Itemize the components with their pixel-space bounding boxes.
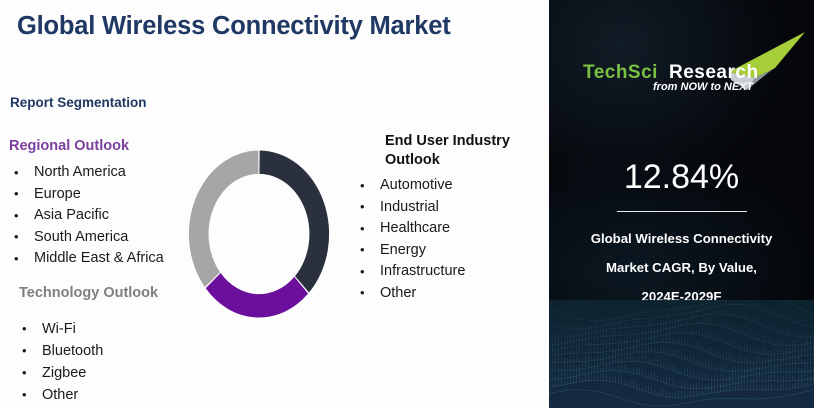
wave-stipple: [615, 367, 616, 371]
wave-stipple: [627, 382, 628, 386]
wave-stipple: [630, 336, 631, 342]
wave-stipple: [762, 302, 763, 309]
wave-stipple: [690, 307, 691, 313]
wave-stipple: [702, 328, 703, 335]
wave-stipple: [636, 347, 637, 353]
wave-stipple: [804, 319, 805, 326]
wave-stipple: [591, 346, 592, 353]
wave-stipple: [807, 374, 808, 379]
wave-stipple: [669, 378, 670, 385]
wave-stipple: [807, 359, 808, 364]
wave-stipple: [777, 347, 778, 354]
wave-stipple: [738, 383, 739, 390]
wave-stipple: [687, 319, 688, 324]
wave-stipple: [738, 356, 739, 362]
wave-stipple: [681, 381, 682, 388]
wave-stipple: [561, 331, 562, 338]
wave-stipple: [564, 322, 565, 328]
wave-stipple: [552, 344, 553, 351]
wave-stipple: [660, 329, 661, 335]
wave-stipple: [609, 377, 610, 382]
list-item: Other: [20, 384, 103, 406]
wave-stipple: [648, 314, 649, 318]
wave-stipple: [753, 357, 754, 363]
wave-stipple: [612, 378, 613, 382]
wave-stipple: [810, 333, 811, 337]
wave-stipple: [762, 386, 763, 390]
wave-stipple: [609, 364, 610, 371]
wave-stipple: [576, 376, 577, 382]
wave-stipple: [687, 369, 688, 376]
wave-stipple: [585, 350, 586, 353]
wave-stipple: [729, 378, 730, 385]
cagr-caption-line-1: Global Wireless Connectivity: [549, 224, 814, 253]
wave-stipple: [624, 315, 625, 322]
wave-stipple: [564, 347, 565, 354]
wave-stipple: [573, 334, 574, 341]
wave-stipple: [660, 324, 661, 331]
wave-stipple: [684, 393, 685, 397]
wave-stipple: [741, 365, 742, 371]
wave-stipple: [621, 321, 622, 328]
wave-stipple: [639, 320, 640, 327]
wave-stipple: [711, 334, 712, 338]
wave-stipple: [711, 387, 712, 393]
wave-stipple: [642, 333, 643, 340]
wave-stipple: [681, 337, 682, 344]
list-item: South America: [12, 227, 164, 249]
wave-stipple: [615, 337, 616, 343]
wave-stipple: [639, 356, 640, 362]
wave-stipple: [750, 360, 751, 363]
wave-stipple: [777, 308, 778, 315]
wave-stipple: [759, 302, 760, 309]
wave-stipple: [651, 372, 652, 379]
wave-stipple: [552, 374, 553, 380]
wave-stipple: [789, 351, 790, 358]
wave-stipple: [708, 347, 709, 353]
wave-stipple: [609, 323, 610, 330]
wave-stipple: [672, 337, 673, 342]
wave-stipple: [762, 367, 763, 374]
wave-stipple: [573, 348, 574, 353]
technology-outlook-list: Wi-Fi Bluetooth Zigbee Other: [20, 318, 103, 406]
wave-stipple: [645, 322, 646, 326]
wave-stipple: [756, 302, 757, 307]
wave-stipple: [717, 388, 718, 392]
wave-stipple: [627, 335, 628, 342]
wave-stipple: [594, 376, 595, 381]
wave-stipple: [654, 390, 655, 394]
wave-stipple: [774, 362, 775, 366]
wave-stipple: [564, 358, 565, 362]
wave-stipple: [582, 369, 583, 375]
wave-stipple: [681, 352, 682, 358]
wave-stipple: [786, 340, 787, 345]
wave-stipple: [696, 310, 697, 317]
wave-stipple: [777, 376, 778, 382]
wave-stipple: [588, 354, 589, 361]
wave-stipple: [729, 326, 730, 329]
wave-stipple: [801, 340, 802, 345]
wave-stipple: [681, 320, 682, 326]
wave-stipple: [780, 378, 781, 381]
wave-stipple: [663, 323, 664, 330]
wave-stipple: [582, 339, 583, 346]
wave-stipple: [789, 314, 790, 321]
wave-stipple: [693, 317, 694, 324]
wave-stipple: [651, 318, 652, 325]
wave-stipple: [810, 343, 811, 349]
wave-stipple: [756, 349, 757, 353]
wave-stipple: [744, 375, 745, 382]
wave-stipple: [732, 325, 733, 330]
wave-stipple: [660, 378, 661, 381]
wave-stipple: [696, 330, 697, 334]
wave-stipple: [606, 361, 607, 365]
wave-stipple: [558, 338, 559, 345]
wave-stipple: [786, 352, 787, 359]
wave-stipple: [750, 383, 751, 389]
wave-stipple: [747, 385, 748, 389]
wave-stipple: [804, 331, 805, 337]
wave-stipple: [666, 312, 667, 317]
wave-stipple: [777, 386, 778, 390]
wave-stipple: [801, 320, 802, 325]
wave-stipple: [768, 376, 769, 381]
wave-stipple: [615, 350, 616, 356]
wave-stipple: [636, 329, 637, 335]
wave-stipple: [699, 391, 700, 395]
wave-stipple: [756, 371, 757, 375]
wave-stipple: [633, 380, 634, 387]
wave-stipple: [741, 300, 742, 305]
wave-stipple: [693, 373, 694, 378]
wave-stipple: [678, 350, 679, 357]
donut-slice: [259, 150, 329, 292]
wave-stipple: [570, 374, 571, 378]
wave-stipple: [576, 347, 577, 354]
wave-stipple: [627, 355, 628, 362]
wave-stipple: [600, 330, 601, 337]
wave-stipple: [726, 385, 727, 391]
wave-stipple: [639, 368, 640, 375]
wave-stipple: [699, 328, 700, 334]
wave-stipple: [624, 351, 625, 355]
wave-stipple: [597, 359, 598, 366]
wave-stipple: [654, 319, 655, 326]
wave-stipple: [744, 300, 745, 305]
wave-stipple: [804, 349, 805, 356]
wave-stipple: [687, 326, 688, 333]
wave-stipple: [618, 376, 619, 383]
cagr-caption: Global Wireless Connectivity Market CAGR…: [549, 224, 814, 311]
wave-stipple: [759, 374, 760, 381]
wave-stipple: [708, 375, 709, 380]
wave-stipple: [642, 370, 643, 376]
wave-stipple: [747, 358, 748, 363]
wave-stipple: [759, 356, 760, 363]
wave-stipple: [576, 370, 577, 377]
wave-stipple: [645, 333, 646, 339]
wave-stipple: [777, 361, 778, 366]
wave-stipple: [741, 355, 742, 362]
wave-stipple: [654, 373, 655, 380]
wave-stipple: [756, 316, 757, 323]
wave-stipple: [744, 367, 745, 371]
wave-stipple: [651, 387, 652, 393]
wave-stipple: [723, 302, 724, 306]
wave-stipple: [780, 383, 781, 389]
wave-stipple: [696, 341, 697, 348]
wave-stipple: [768, 360, 769, 367]
wave-stipple: [657, 391, 658, 395]
wave-stipple: [678, 311, 679, 315]
wave-stipple: [651, 337, 652, 344]
wave-stipple: [777, 365, 778, 372]
wave-stipple: [810, 379, 811, 385]
wave-stipple: [660, 389, 661, 395]
wave-stipple: [729, 338, 730, 344]
wave-stipple: [624, 342, 625, 349]
wave-stipple: [690, 355, 691, 362]
wave-stipple: [723, 308, 724, 314]
wave-stipple: [759, 368, 760, 374]
wave-stipple: [555, 364, 556, 371]
wave-stipple: [678, 390, 679, 397]
list-item: Bluetooth: [20, 340, 103, 362]
wave-stipple: [735, 324, 736, 331]
wave-stipple: [573, 325, 574, 329]
wave-stipple: [675, 365, 676, 372]
wave-stipple: [627, 314, 628, 321]
wave-stipple: [777, 355, 778, 360]
wave-stipple: [558, 374, 559, 379]
wave-stipple: [702, 318, 703, 323]
wave-stipple: [720, 386, 721, 392]
wave-stipple: [579, 369, 580, 376]
wave-stipple: [627, 343, 628, 348]
wave-stipple: [669, 351, 670, 355]
wave-stipple: [714, 374, 715, 380]
wave-stipple: [771, 308, 772, 313]
wave-stipple: [603, 340, 604, 344]
wave-stipple: [660, 360, 661, 367]
wave-stipple: [762, 357, 763, 362]
wave-stipple: [669, 336, 670, 343]
wave-stipple: [774, 367, 775, 373]
wave-stipple: [657, 320, 658, 325]
wave-stipple: [732, 379, 733, 385]
wave-stipple: [771, 384, 772, 390]
wave-stipple: [627, 366, 628, 372]
wave-stipple: [600, 338, 601, 344]
wave-stipple: [795, 332, 796, 336]
wave-stipple: [789, 366, 790, 372]
wave-stipple: [552, 333, 553, 338]
wave-stipple: [714, 333, 715, 339]
wave-stipple: [708, 333, 709, 337]
wave-stipple: [780, 329, 781, 333]
wave-stipple: [582, 357, 583, 361]
wave-stipple: [726, 379, 727, 386]
wave-stipple: [600, 320, 601, 326]
wave-stipple: [750, 369, 751, 376]
wave-stipple: [723, 375, 724, 380]
wave-stipple: [555, 352, 556, 355]
wave-stipple: [606, 345, 607, 352]
wave-stipple: [678, 382, 679, 387]
wave-stipple: [636, 340, 637, 347]
wave-stipple: [708, 387, 709, 394]
wave-stipple: [786, 368, 787, 372]
wave-stipple: [705, 373, 706, 380]
wave-stipple: [699, 342, 700, 349]
wave-stipple: [732, 372, 733, 379]
wave-stipple: [726, 352, 727, 359]
wave-stipple: [555, 380, 556, 386]
wave-stipple: [687, 340, 688, 345]
wave-stipple: [567, 380, 568, 384]
wave-stipple: [711, 307, 712, 314]
wave-stipple: [624, 380, 625, 385]
wave-stipple: [654, 331, 655, 337]
wave-stipple: [738, 378, 739, 383]
wave-stipple: [774, 348, 775, 354]
wave-stipple: [711, 319, 712, 325]
wave-stipple: [672, 380, 673, 386]
wave-stipple: [591, 341, 592, 345]
wave-stipple: [642, 321, 643, 326]
wave-stipple: [696, 358, 697, 364]
wave-stipple: [624, 337, 625, 343]
wave-stipple: [606, 323, 607, 330]
wave-stipple: [648, 372, 649, 377]
wave-mesh-decoration: [549, 300, 814, 408]
wave-stipple: [588, 341, 589, 346]
wave-stipple: [747, 344, 748, 351]
wave-stipple: [579, 329, 580, 336]
wave-stipple: [636, 358, 637, 362]
wave-stipple: [576, 356, 577, 362]
wave-stipple: [768, 336, 769, 343]
wave-stipple: [564, 380, 565, 385]
wave-stipple: [810, 337, 811, 344]
wave-stipple: [618, 349, 619, 356]
wave-stipple: [741, 345, 742, 349]
wave-stipple: [633, 356, 634, 361]
wave-stipple: [612, 324, 613, 329]
wave-stipple: [603, 325, 604, 331]
wave-stipple: [573, 342, 574, 347]
wave-stipple: [699, 361, 700, 365]
wave-stipple: [678, 319, 679, 326]
wave-stipple: [624, 332, 625, 335]
wave-stipple: [774, 386, 775, 390]
wave-stipple: [630, 347, 631, 353]
wave-stipple: [645, 342, 646, 345]
wave-stipple: [792, 359, 793, 364]
wave-stipple: [681, 370, 682, 374]
wave-stipple: [576, 325, 577, 330]
wave-stipple: [552, 350, 553, 355]
wave-stipple: [627, 330, 628, 335]
wave-stipple: [792, 331, 793, 336]
wave-stipple: [717, 300, 718, 306]
wave-stipple: [723, 352, 724, 358]
wave-stipple: [648, 320, 649, 326]
wave-stipple: [708, 317, 709, 324]
wave-stipple: [723, 364, 724, 371]
wave-stipple: [561, 323, 562, 328]
wave-stipple: [774, 307, 775, 314]
wave-stipple: [807, 381, 808, 385]
wave-stipple: [597, 338, 598, 345]
wave-stipple: [558, 350, 559, 355]
wave-stipple: [657, 311, 658, 318]
wave-stipple: [804, 344, 805, 350]
wave-stipple: [738, 301, 739, 305]
wave-stipple: [621, 343, 622, 350]
wave-stipple: [621, 365, 622, 372]
wave-stipple: [633, 337, 634, 341]
wave-stipple: [588, 332, 589, 339]
wave-stipple: [681, 313, 682, 320]
wave-stipple: [702, 383, 703, 389]
wave-stipple: [585, 375, 586, 381]
wave-stipple: [807, 351, 808, 356]
segmentation-donut-chart: [186, 147, 332, 321]
wave-stipple: [765, 384, 766, 390]
wave-stipple: [759, 365, 760, 369]
wave-stipple: [555, 320, 556, 326]
wave-stipple: [618, 322, 619, 328]
wave-stipple: [603, 360, 604, 365]
wave-stipple: [651, 346, 652, 352]
wave-stipple: [588, 374, 589, 381]
wave-stipple: [798, 368, 799, 373]
wave-stipple: [672, 317, 673, 322]
wave-stipple: [672, 309, 673, 316]
wave-stipple: [714, 308, 715, 315]
wave-stipple: [621, 330, 622, 336]
wave-stipple: [570, 341, 571, 347]
wave-stipple: [795, 382, 796, 388]
wave-stipple: [759, 337, 760, 340]
wave-stipple: [693, 356, 694, 363]
wave-stipple: [633, 321, 634, 327]
cagr-value: 12.84%: [549, 158, 814, 197]
wave-stipple: [573, 365, 574, 370]
wave-stipple: [765, 367, 766, 374]
wave-stipple: [756, 363, 757, 369]
wave-stipple: [606, 374, 607, 380]
wave-stipple: [786, 359, 787, 365]
wave-svg: [549, 300, 814, 408]
wave-stipple: [720, 300, 721, 306]
wave-stipple: [639, 348, 640, 352]
list-item: Energy: [358, 240, 465, 262]
wave-stipple: [567, 372, 568, 378]
wave-stipple: [729, 300, 730, 305]
wave-stipple: [741, 328, 742, 334]
wave-stipple: [663, 337, 664, 343]
wave-stipple: [765, 323, 766, 327]
wave-stipple: [630, 314, 631, 320]
wave-stipple: [795, 354, 796, 357]
wave-stipple: [606, 365, 607, 372]
wave-stipple: [600, 374, 601, 380]
